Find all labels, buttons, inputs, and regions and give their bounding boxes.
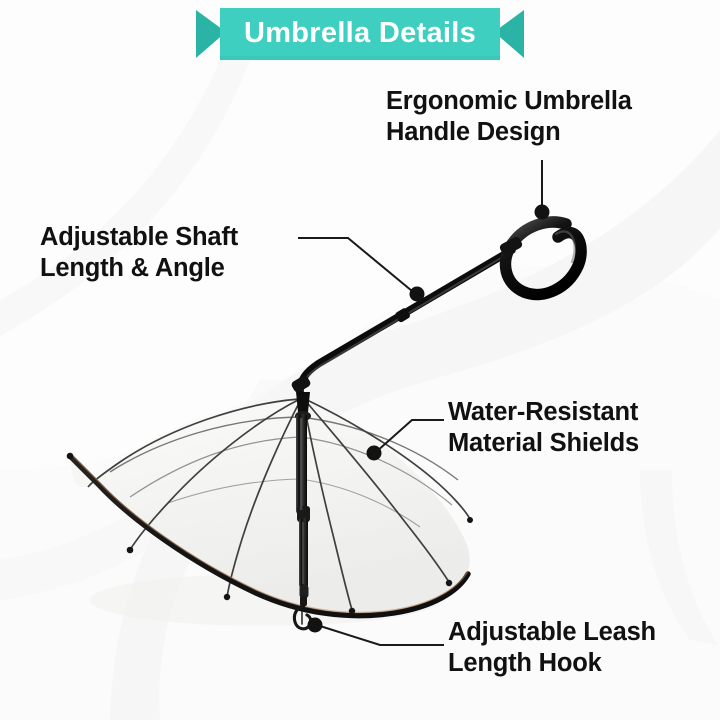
callout-label-leash: Adjustable Leash Length Hook [448,617,703,678]
leader-dot-handle [535,205,550,220]
banner-title: Umbrella Details [196,6,524,62]
infographic-canvas: Umbrella Details Ergonomic Umbrella Hand… [0,0,720,720]
leader-line-shaft [298,238,412,291]
callout-label-handle: Ergonomic Umbrella Handle Design [386,86,686,147]
banner: Umbrella Details [196,6,524,62]
leader-line-water [376,420,444,452]
callout-label-water: Water-Resistant Material Shields [448,397,698,458]
leader-dot-water [367,446,382,461]
callout-label-shaft: Adjustable Shaft Length & Angle [40,222,310,283]
leader-dot-leash [308,618,323,633]
leader-line-leash [320,626,444,645]
leader-dot-shaft [410,287,425,302]
